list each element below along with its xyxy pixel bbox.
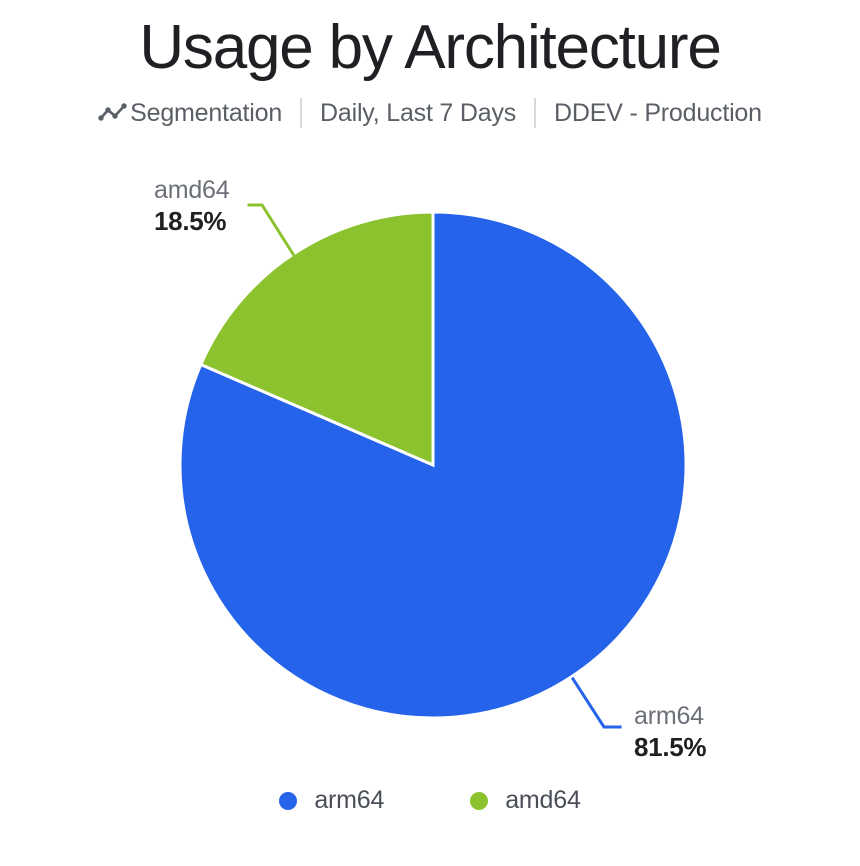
pie-slice-amd64[interactable] (201, 212, 433, 465)
chart-legend: arm64 amd64 (0, 786, 860, 815)
chart-header: Usage by Architecture Segmentation Daily… (0, 0, 860, 130)
subtitle-label-segmentation: Segmentation (130, 99, 282, 128)
legend-label-arm64: arm64 (314, 786, 384, 815)
legend-item-amd64[interactable]: amd64 (470, 786, 580, 815)
legend-swatch-arm64 (279, 792, 297, 810)
subtitle-item-segmentation: Segmentation (98, 99, 300, 128)
slice-callout-arm64-category: arm64 (634, 702, 706, 732)
slice-callout-arm64-value: 81.5% (634, 732, 706, 763)
subtitle-label-source: DDEV - Production (554, 99, 762, 128)
pie-chart-card: Usage by Architecture Segmentation Daily… (0, 0, 860, 861)
legend-swatch-amd64 (470, 792, 488, 810)
page-title: Usage by Architecture (0, 0, 860, 79)
subtitle-label-daterange: Daily, Last 7 Days (320, 99, 516, 128)
legend-item-arm64[interactable]: arm64 (279, 786, 384, 815)
slice-callout-amd64-value: 18.5% (154, 206, 229, 237)
chart-subtitle-row: Segmentation Daily, Last 7 Days DDEV - P… (0, 96, 860, 130)
slice-callout-amd64-category: amd64 (154, 176, 229, 206)
segmentation-trend-icon (98, 102, 128, 124)
slice-callout-arm64: arm64 81.5% (634, 702, 706, 762)
subtitle-item-source: DDEV - Production (536, 99, 762, 128)
leader-line-arm64 (573, 679, 620, 727)
leader-line-amd64 (249, 205, 293, 254)
legend-label-amd64: amd64 (505, 786, 580, 815)
pie-slice-arm64[interactable] (180, 212, 686, 718)
subtitle-item-daterange: Daily, Last 7 Days (302, 99, 534, 128)
slice-callout-amd64: amd64 18.5% (154, 176, 229, 236)
